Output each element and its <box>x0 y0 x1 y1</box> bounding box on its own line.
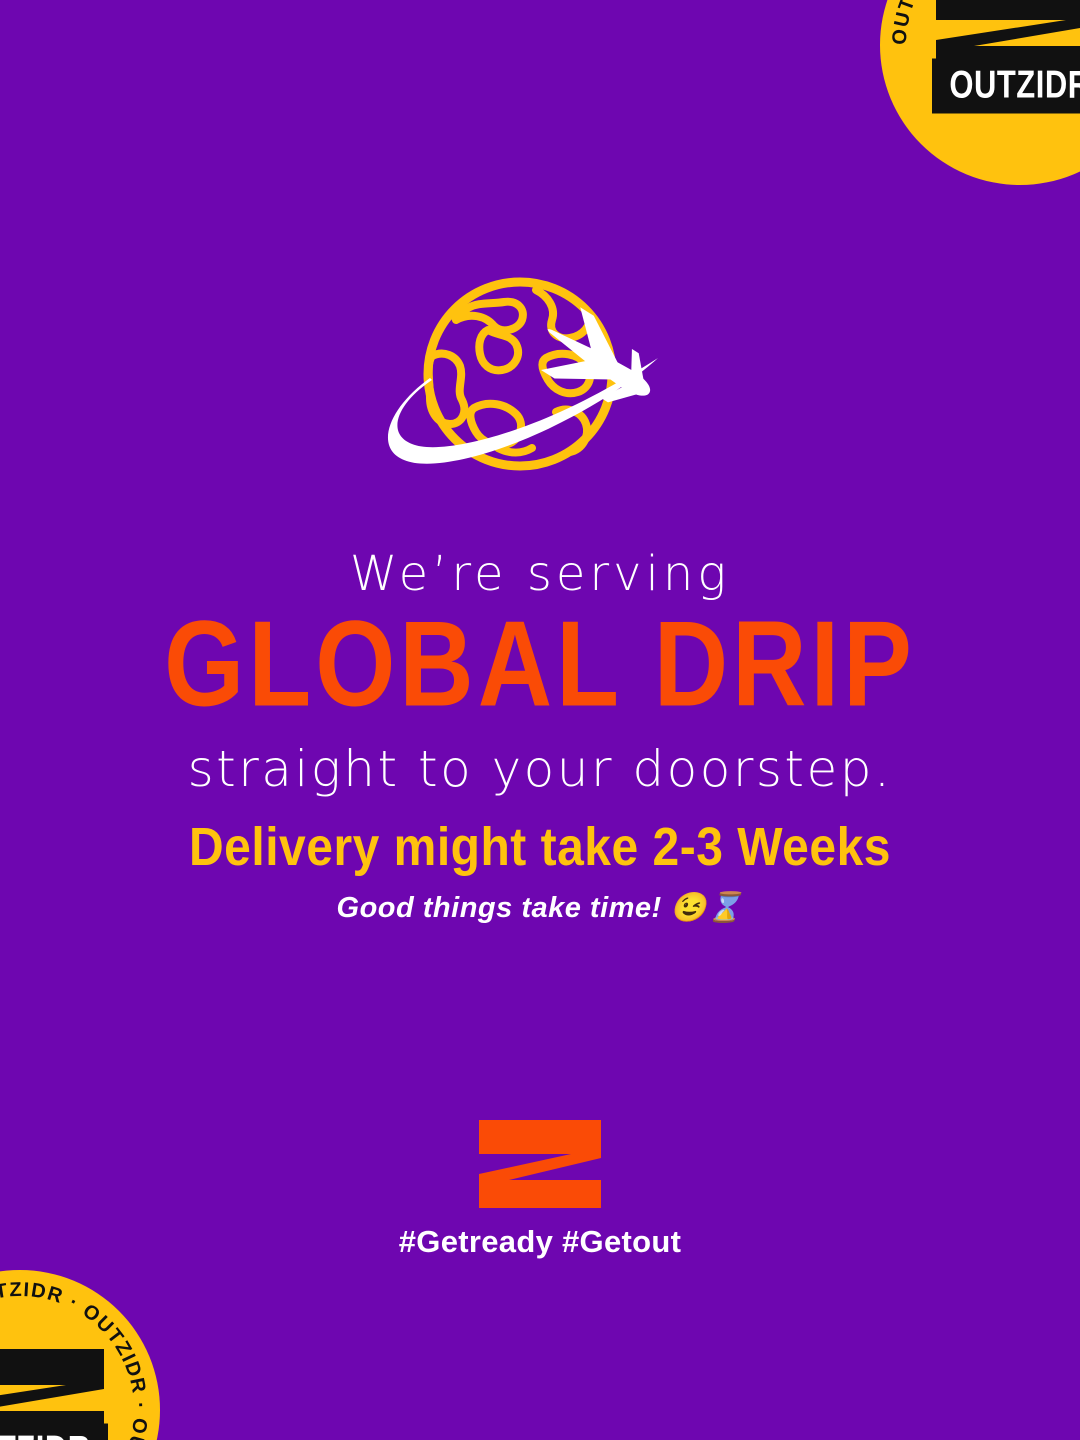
globe-illustration <box>0 272 1080 494</box>
delivery-sub-text: Good things take time! 😉⌛ <box>0 891 1080 925</box>
badge-center-word-top-right: OUTZIDR <box>932 59 1080 114</box>
headline-line-1: We’re serving <box>0 548 1080 602</box>
delivery-block: Delivery might take 2-3 Weeks Good thing… <box>0 822 1080 925</box>
hashtags: #Getready #Getout <box>0 1224 1080 1260</box>
badge-core-top-right: OUTZIDR <box>932 0 1080 108</box>
outzidr-badge-top-right: OUTZIDR · OUTZIDR · OUTZIDR · OUTZIDR · … <box>880 0 1080 185</box>
headline-line-3: straight to your doorstep. <box>0 741 1080 797</box>
poster-canvas: We’re serving GLOBAL DRIP straight to yo… <box>0 0 1080 1440</box>
outzidr-z-logo <box>475 1118 605 1210</box>
badge-center-word-bottom-left: OUTZIDR <box>0 1424 108 1440</box>
headline-block: We’re serving GLOBAL DRIP straight to yo… <box>0 548 1080 797</box>
badge-core-bottom-left: OUTZIDR <box>0 1347 108 1440</box>
delivery-main-text: Delivery might take 2-3 Weeks <box>0 819 1080 878</box>
footer-block: #Getready #Getout <box>0 1118 1080 1260</box>
headline-line-2: GLOBAL DRIP <box>0 602 1080 724</box>
outzidr-badge-bottom-left: OUTZIDR · OUTZIDR · OUTZIDR · OUTZIDR · … <box>0 1270 160 1440</box>
globe-airplane-svg <box>370 272 710 494</box>
